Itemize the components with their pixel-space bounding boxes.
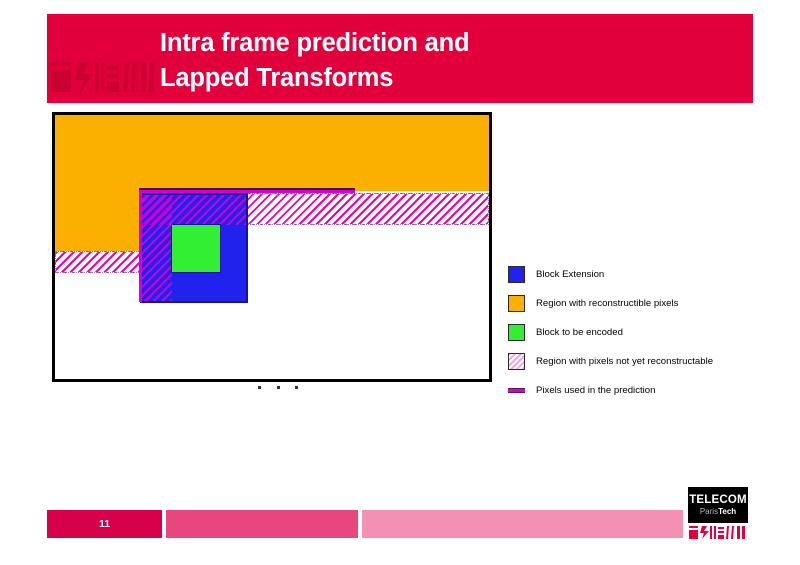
prediction-line-left [139, 190, 142, 302]
diagram-legend: Block Extension Region with reconstructi… [508, 264, 768, 409]
telecom-paristech-watermark-icon [49, 58, 159, 100]
legend-item-block-to-encode: Block to be encoded [508, 322, 768, 343]
ellipsis-dot [295, 386, 298, 389]
legend-item-label: Region with reconstructible pixels [536, 299, 678, 309]
prediction-band-hatch-left [142, 195, 172, 301]
frame-continuation-ellipsis [258, 382, 298, 392]
green-square-icon [508, 324, 525, 341]
page-number: 11 [47, 510, 162, 538]
legend-item-not-reconstructable-region: Region with pixels not yet reconstructab… [508, 351, 768, 372]
slide-header-banner: Intra frame prediction and Lapped Transf… [47, 14, 753, 103]
footer-bar-tertiary [362, 510, 683, 538]
logo-telecom-text: TELECOM [689, 494, 747, 506]
diagram-inner-canvas [55, 115, 489, 379]
logo-tech-text: Tech [718, 507, 736, 516]
intra-prediction-frame-diagram [52, 112, 492, 382]
legend-item-label: Pixels used in the prediction [536, 386, 655, 396]
block-to-encode-green [171, 224, 221, 273]
blue-square-icon [508, 266, 525, 283]
legend-item-reconstructible-region: Region with reconstructible pixels [508, 293, 768, 314]
legend-item-label: Block Extension [536, 270, 604, 280]
logo-paris-text: Paris [700, 507, 718, 516]
legend-item-prediction-pixels: Pixels used in the prediction [508, 380, 768, 401]
footer-bar-primary [47, 510, 162, 538]
region-reconstructible-orange-top [55, 115, 489, 191]
pink-hatch-square-icon [508, 353, 525, 370]
prediction-line-top [139, 190, 355, 193]
magenta-line-icon [508, 388, 525, 393]
ellipsis-dot [277, 386, 280, 389]
ellipsis-dot [258, 386, 261, 389]
legend-item-label: Block to be encoded [536, 328, 623, 338]
telecom-paristech-logo: TELECOM ParisTech [688, 487, 748, 540]
logo-box: TELECOM ParisTech [688, 487, 748, 523]
legend-item-label: Region with pixels not yet reconstructab… [536, 357, 713, 367]
page-title-line-2: Lapped Transforms [160, 61, 720, 96]
footer-bar-secondary [166, 510, 358, 538]
region-not-reconstructable-left [55, 251, 141, 273]
telecom-paristech-glyph-icon [688, 525, 748, 540]
legend-item-block-extension: Block Extension [508, 264, 768, 285]
page-title: Intra frame prediction and Lapped Transf… [160, 26, 720, 96]
logo-paristech-text: ParisTech [700, 507, 736, 516]
page-title-line-1: Intra frame prediction and [160, 26, 720, 61]
region-reconstructible-orange-left [55, 191, 141, 252]
orange-square-icon [508, 295, 525, 312]
